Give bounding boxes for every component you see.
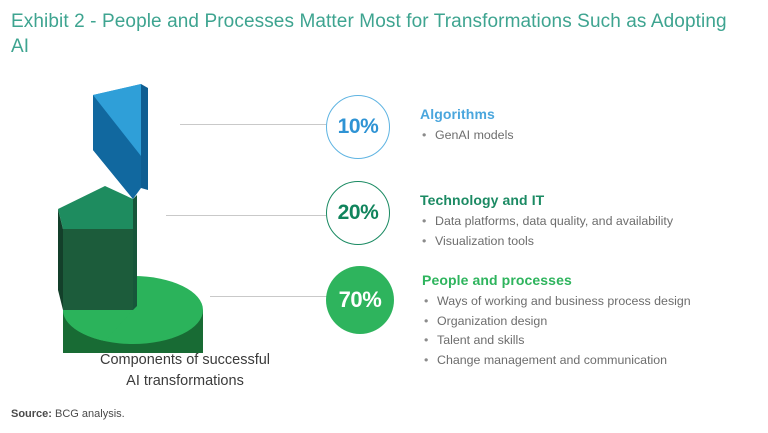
chart-slice-algorithms <box>93 84 148 199</box>
bullet-dot-icon: • <box>422 126 426 146</box>
legend-text-technology: Technology and IT • Data platforms, data… <box>420 181 673 251</box>
bullet-dot-icon: • <box>424 292 428 312</box>
source-note: Source: BCG analysis. <box>11 408 125 420</box>
bullet-list-technology: • Data platforms, data quality, and avai… <box>420 212 673 251</box>
percent-badge-algorithms: 10% <box>326 95 390 159</box>
bullet-dot-icon: • <box>422 232 426 252</box>
list-item: • GenAI models <box>420 126 514 146</box>
legend-row-algorithms: 10% Algorithms • GenAI models <box>326 95 514 159</box>
chart-caption-line-1: Components of successful <box>60 350 310 371</box>
bullet-dot-icon: • <box>424 331 428 351</box>
list-item: • Visualization tools <box>420 232 673 252</box>
list-item-label: Change management and communication <box>437 353 667 367</box>
leader-line-technology <box>166 215 326 216</box>
leader-line-people <box>210 296 328 297</box>
list-item-label: Organization design <box>437 314 547 328</box>
list-item: • Talent and skills <box>422 331 691 351</box>
bullet-dot-icon: • <box>424 312 428 332</box>
bullet-dot-icon: • <box>422 212 426 232</box>
chart-caption-line-2: AI transformations <box>60 371 310 392</box>
percent-badge-people: 70% <box>326 266 394 334</box>
chart-slice-technology <box>58 186 137 310</box>
list-item: • Data platforms, data quality, and avai… <box>420 212 673 232</box>
legend-heading-people: People and processes <box>422 272 691 288</box>
legend-text-people: People and processes • Ways of working a… <box>422 266 691 370</box>
leader-line-algorithms <box>180 124 326 125</box>
list-item: • Ways of working and business process d… <box>422 292 691 312</box>
list-item-label: GenAI models <box>435 128 514 142</box>
page-title: Exhibit 2 - People and Processes Matter … <box>11 9 746 59</box>
bullet-dot-icon: • <box>424 351 428 371</box>
chart-caption: Components of successful AI transformati… <box>60 350 310 392</box>
legend-heading-algorithms: Algorithms <box>420 106 514 122</box>
list-item-label: Visualization tools <box>435 234 534 248</box>
source-label: Source: <box>11 408 52 420</box>
list-item-label: Ways of working and business process des… <box>437 294 691 308</box>
list-item-label: Talent and skills <box>437 333 524 347</box>
list-item: • Organization design <box>422 312 691 332</box>
legend-heading-technology: Technology and IT <box>420 192 673 208</box>
legend-text-algorithms: Algorithms • GenAI models <box>420 95 514 146</box>
list-item-label: Data platforms, data quality, and availa… <box>435 214 673 228</box>
legend-row-technology: 20% Technology and IT • Data platforms, … <box>326 181 673 251</box>
percent-badge-technology: 20% <box>326 181 390 245</box>
source-text: BCG analysis. <box>55 408 125 420</box>
list-item: • Change management and communication <box>422 351 691 371</box>
legend-row-people: 70% People and processes • Ways of worki… <box>326 266 691 370</box>
bullet-list-people: • Ways of working and business process d… <box>422 292 691 370</box>
bullet-list-algorithms: • GenAI models <box>420 126 514 146</box>
